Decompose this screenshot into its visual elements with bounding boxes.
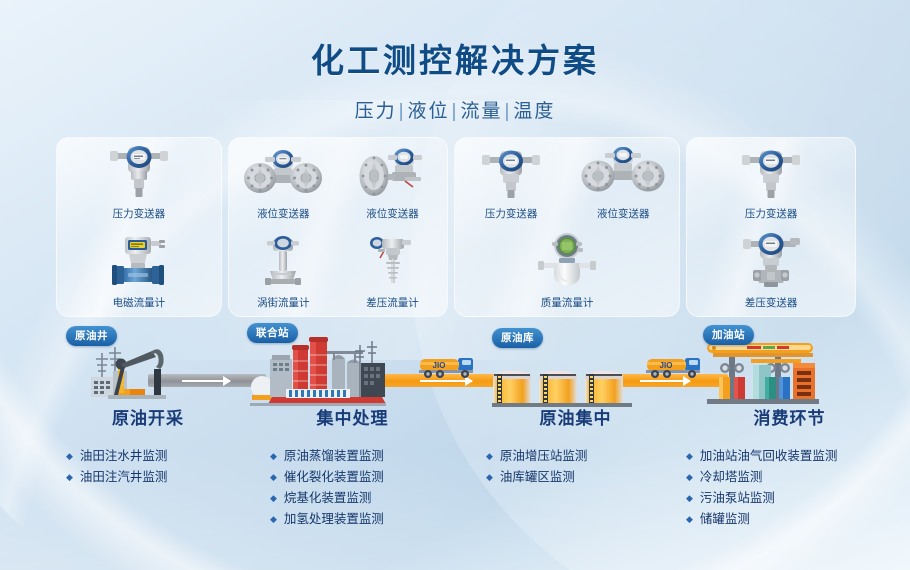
oil-storage-tanks-illustration	[492, 359, 632, 418]
flow-arrow-1	[182, 380, 230, 382]
list-item: ◆原油增压站监测	[486, 446, 683, 467]
electromagnetic-flowmeter-icon	[101, 236, 177, 288]
product-card-level-transmitter-flanged[interactable]: 液位变送器	[229, 147, 338, 227]
svg-text:JIO: JIO	[433, 361, 446, 370]
subtitle-part-temperature: 温度	[513, 101, 555, 122]
subtitle-part-flow: 流量	[460, 101, 502, 122]
panel-4-row-2: 差压变送器	[687, 227, 855, 316]
list-item: ◆油田注水井监测	[66, 446, 248, 467]
panel-3-row-2: 质量流量计	[455, 227, 679, 316]
list-item: ◆油库罐区监测	[486, 467, 683, 488]
product-card-differential-pressure-flowmeter[interactable]: 差压流量计	[338, 236, 447, 316]
subtitle-separator-2: |	[452, 101, 459, 122]
product-card-electromagnetic-flowmeter[interactable]: 电磁流量计	[57, 236, 221, 316]
oil-well-illustration	[88, 337, 178, 418]
stage-column-4: 消费环节 ◆加油站油气回收装置监测 ◆冷却塔监测 ◆污油泵站监测 ◆储罐监测	[672, 404, 907, 530]
product-label: 液位变送器	[257, 206, 310, 221]
bullet-text: 油田注水井监测	[80, 446, 168, 467]
product-card-mass-flowmeter[interactable]: 质量流量计	[531, 236, 603, 316]
product-panel-4: 压力变送器	[686, 137, 856, 317]
bullet-text: 加油站油气回收装置监测	[700, 446, 838, 467]
subtitle-part-pressure: 压力	[355, 101, 397, 122]
badge-crude-oil-well[interactable]: 原油井	[66, 326, 117, 346]
product-label: 压力变送器	[485, 206, 538, 221]
panel-1-row-1: 压力变送器	[57, 138, 221, 227]
product-panel-3: 压力变送器	[454, 137, 680, 317]
subtitle-part-level: 液位	[408, 101, 450, 122]
list-item: ◆烷基化装置监测	[270, 488, 465, 509]
page-title: 化工测控解决方案	[0, 34, 910, 82]
list-item: ◆加油站油气回收装置监测	[686, 446, 907, 467]
product-label: 压力变送器	[113, 206, 166, 221]
bullet-text: 油田注汽井监测	[80, 467, 168, 488]
badge-gathering-station[interactable]: 联合站	[247, 323, 298, 343]
list-item: ◆催化裂化装置监测	[270, 467, 465, 488]
differential-pressure-transmitter-icon	[738, 236, 804, 288]
product-label: 涡街流量计	[257, 295, 310, 310]
subtitle-separator-1: |	[399, 101, 406, 122]
level-transmitter-single-flange-icon	[359, 147, 425, 199]
panel-3-row-1: 压力变送器	[455, 138, 679, 227]
bullet-text: 加氢处理装置监测	[284, 509, 384, 530]
bullet-text: 烷基化装置监测	[284, 488, 372, 509]
list-item: ◆冷却塔监测	[686, 467, 907, 488]
level-transmitter-flanged-icon	[579, 147, 667, 199]
stage-3-bullet-list: ◆原油增压站监测 ◆油库罐区监测	[486, 446, 683, 488]
list-item: ◆储罐监测	[686, 509, 907, 530]
bullet-diamond-icon: ◆	[270, 467, 277, 488]
pressure-transmitter-icon	[108, 141, 170, 199]
panel-2-row-1: 液位变送器	[229, 138, 447, 227]
product-panel-group: 压力变送器	[56, 137, 856, 317]
badge-crude-oil-depot[interactable]: 原油库	[492, 328, 543, 348]
product-card-vortex-flowmeter[interactable]: 涡街流量计	[229, 236, 338, 316]
product-panel-1: 压力变送器	[56, 137, 222, 317]
bullet-text: 原油蒸馏装置监测	[284, 446, 384, 467]
badge-gas-station[interactable]: 加油站	[703, 325, 754, 345]
stage-2-bullet-list: ◆原油蒸馏装置监测 ◆催化裂化装置监测 ◆烷基化装置监测 ◆加氢处理装置监测	[270, 446, 465, 530]
list-item: ◆原油蒸馏装置监测	[270, 446, 465, 467]
gas-station-illustration	[705, 335, 833, 418]
product-panel-2: 液位变送器	[228, 137, 448, 317]
bullet-diamond-icon: ◆	[270, 446, 277, 467]
svg-text:JIO: JIO	[660, 361, 673, 370]
stage-4-bullet-list: ◆加油站油气回收装置监测 ◆冷却塔监测 ◆污油泵站监测 ◆储罐监测	[686, 446, 907, 530]
bullet-diamond-icon: ◆	[270, 488, 277, 509]
pressure-transmitter-icon	[480, 147, 542, 199]
tanker-truck-1: JIO	[418, 353, 476, 386]
bullet-text: 储罐监测	[700, 509, 750, 530]
list-item: ◆油田注汽井监测	[66, 467, 248, 488]
stage-1-bullet-list: ◆油田注水井监测 ◆油田注汽井监测	[66, 446, 248, 488]
panel-2-row-2: 涡街流量计	[229, 227, 447, 316]
bullet-text: 油库罐区监测	[500, 467, 575, 488]
product-label: 质量流量计	[541, 295, 594, 310]
level-transmitter-flanged-icon	[241, 147, 325, 199]
panel-1-row-2: 电磁流量计	[57, 227, 221, 316]
product-card-pressure-transmitter[interactable]: 压力变送器	[57, 141, 221, 227]
bullet-text: 催化裂化装置监测	[284, 467, 384, 488]
differential-pressure-flowmeter-icon	[364, 236, 420, 288]
bullet-diamond-icon: ◆	[486, 446, 493, 467]
bullet-text: 原油增压站监测	[500, 446, 588, 467]
bullet-text: 冷却塔监测	[700, 467, 763, 488]
bullet-diamond-icon: ◆	[486, 467, 493, 488]
product-label: 电磁流量计	[113, 295, 166, 310]
bullet-diamond-icon: ◆	[686, 488, 693, 509]
list-item: ◆污油泵站监测	[686, 488, 907, 509]
bullet-diamond-icon: ◆	[66, 467, 73, 488]
panel-4-row-1: 压力变送器	[687, 138, 855, 227]
product-label: 差压流量计	[366, 295, 419, 310]
stage-column-2: 集中处理 ◆原油蒸馏装置监测 ◆催化裂化装置监测 ◆烷基化装置监测 ◆加氢处理装…	[240, 404, 465, 530]
product-card-level-transmitter-flanged-2[interactable]: 液位变送器	[567, 147, 679, 227]
bullet-diamond-icon: ◆	[686, 509, 693, 530]
product-label: 液位变送器	[366, 206, 419, 221]
bullet-text: 污油泵站监测	[700, 488, 775, 509]
pressure-transmitter-icon	[740, 147, 802, 199]
product-card-pressure-transmitter-2[interactable]: 压力变送器	[455, 147, 567, 227]
bullet-diamond-icon: ◆	[270, 509, 277, 530]
bullet-diamond-icon: ◆	[686, 467, 693, 488]
bullet-diamond-icon: ◆	[66, 446, 73, 467]
vortex-flowmeter-icon	[255, 236, 311, 288]
product-label: 压力变送器	[745, 206, 798, 221]
product-card-pressure-transmitter-3[interactable]: 压力变送器	[687, 147, 855, 227]
product-label: 差压变送器	[745, 295, 798, 310]
product-card-level-transmitter-single-flange[interactable]: 液位变送器	[338, 147, 447, 227]
page-subtitle: 压力|液位|流量|温度	[0, 96, 910, 123]
tanker-truck-2: JIO	[645, 353, 703, 386]
stage-detail-columns: 原油开采 ◆油田注水井监测 ◆油田注汽井监测 集中处理 ◆原油蒸馏装置监测 ◆催…	[0, 404, 910, 564]
subtitle-separator-3: |	[504, 101, 511, 122]
product-label: 液位变送器	[597, 206, 650, 221]
bullet-diamond-icon: ◆	[686, 446, 693, 467]
mass-flowmeter-icon	[531, 236, 603, 288]
product-card-differential-pressure-transmitter[interactable]: 差压变送器	[687, 236, 855, 316]
header: 化工测控解决方案 压力|液位|流量|温度	[0, 34, 910, 123]
list-item: ◆加氢处理装置监测	[270, 509, 465, 530]
infographic-canvas: 化工测控解决方案 压力|液位|流量|温度	[0, 0, 910, 570]
